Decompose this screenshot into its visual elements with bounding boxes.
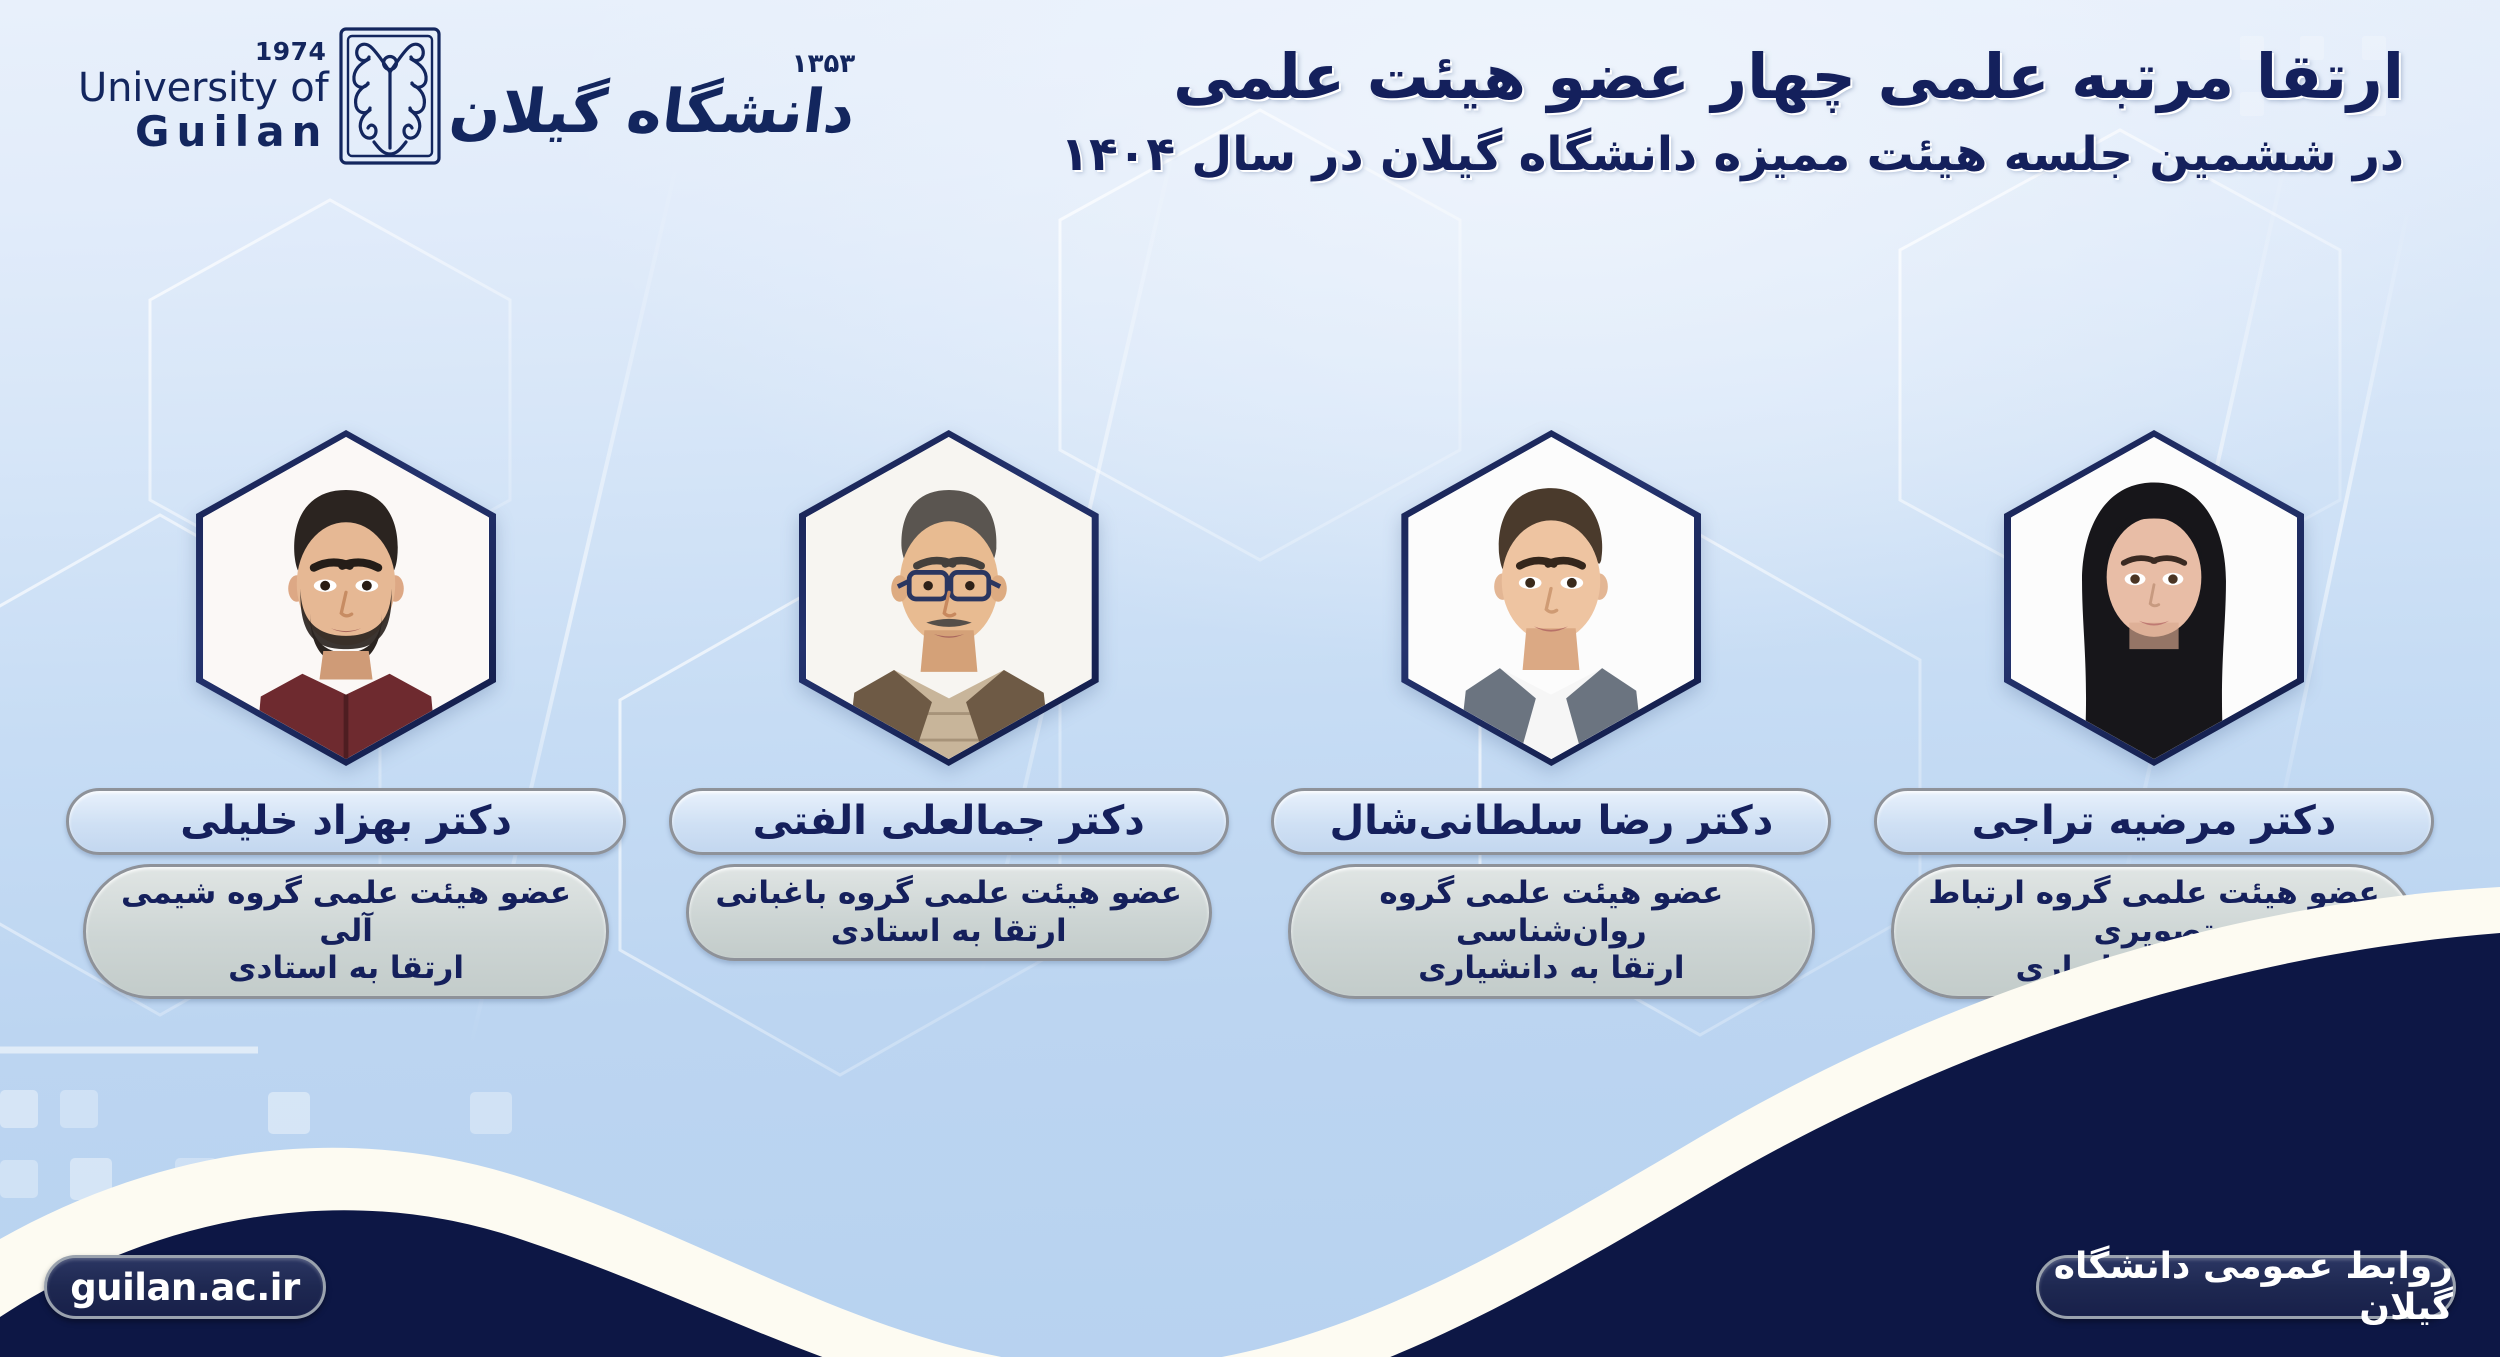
portrait-jamalali-olfati <box>806 437 1092 759</box>
portrait-hexagon-frame <box>196 430 496 766</box>
logo-year-fa: ۱۳۵۳ <box>792 49 855 79</box>
portrait-marzieh-toraji <box>2011 437 2297 759</box>
faculty-name: دکتر رضا سلطانی‌شال <box>1271 788 1831 855</box>
logo-year-en: 1974 <box>255 39 327 64</box>
website-badge[interactable]: guilan.ac.ir <box>44 1255 326 1319</box>
hexagon-photo-area <box>806 437 1092 759</box>
portrait-hexagon-frame <box>2004 430 2304 766</box>
poster-canvas: 1974 University of Guilan <box>0 0 2500 1357</box>
poster-title: ارتقا مرتبه علمی چهار عضو هیئت علمی <box>1060 38 2404 116</box>
portrait-hexagon-frame <box>1401 430 1701 766</box>
logo-university-text: University of <box>78 68 328 108</box>
hexagon-photo-area <box>2011 437 2297 759</box>
poster-header: 1974 University of Guilan <box>0 0 2500 270</box>
guilan-university-emblem-icon <box>338 26 442 166</box>
hexagon-photo-area <box>1408 437 1694 759</box>
portrait-reza-soltani-shal <box>1408 437 1694 759</box>
portrait-behzad-khalili <box>203 437 489 759</box>
public-relations-label: روابط عمومی دانشگاه گیلان <box>2039 1246 2453 1328</box>
university-logo: 1974 University of Guilan <box>78 26 855 166</box>
faculty-name: دکتر بهزاد خلیلی <box>66 788 626 855</box>
faculty-name: دکتر جمالعلی الفتی <box>669 788 1229 855</box>
logo-persian-name: دانشگاه گیلان <box>447 81 860 144</box>
website-label: guilan.ac.ir <box>70 1266 299 1309</box>
poster-subtitle: در ششمین جلسه هیئت ممیزه دانشگاه گیلان د… <box>1060 124 2404 185</box>
public-relations-badge[interactable]: روابط عمومی دانشگاه گیلان <box>2036 1255 2456 1319</box>
logo-guilan-text: Guilan <box>135 111 328 153</box>
logo-english-block: 1974 University of Guilan <box>78 39 338 153</box>
hexagon-photo-area <box>203 437 489 759</box>
portrait-hexagon-frame <box>799 430 1099 766</box>
faculty-name: دکتر مرضیه تراجی <box>1874 788 2434 855</box>
title-block: ارتقا مرتبه علمی چهار عضو هیئت علمی در ش… <box>1060 38 2404 185</box>
logo-persian-block: ۱۳۵۳ دانشگاه گیلان <box>442 49 855 144</box>
